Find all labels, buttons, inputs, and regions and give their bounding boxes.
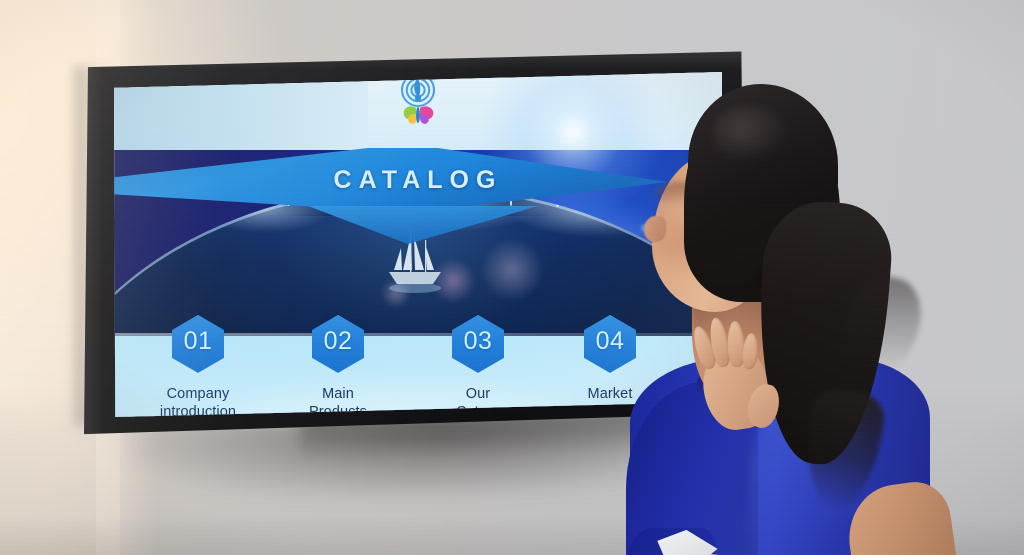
step-hexagon[interactable]: 03 bbox=[452, 315, 504, 373]
hair-sheen bbox=[712, 106, 788, 162]
step-label-line2: Products bbox=[278, 403, 398, 417]
step-hexagon[interactable]: 02 bbox=[312, 315, 364, 373]
paper-sheet-white bbox=[654, 528, 718, 555]
catalog-step-03[interactable]: 03 Our Cuture bbox=[418, 315, 538, 417]
catalog-step-01[interactable]: 01 Company introduction bbox=[138, 315, 258, 417]
room-scene: CATALOG 01 Company introduction bbox=[0, 0, 1024, 555]
step-label: Main Products bbox=[278, 385, 398, 417]
slide-title: CATALOG bbox=[334, 166, 503, 195]
step-number: 03 bbox=[452, 315, 504, 373]
step-number: 02 bbox=[312, 315, 364, 373]
person-raised-hand bbox=[678, 310, 786, 442]
step-label-line2: Cuture bbox=[418, 403, 538, 417]
step-label-line1: Company bbox=[138, 385, 258, 404]
catalog-step-02[interactable]: 02 Main Products bbox=[278, 315, 398, 417]
person-viewing-screen bbox=[600, 90, 960, 555]
step-label-line1: Main bbox=[278, 385, 398, 404]
step-number: 01 bbox=[172, 315, 224, 373]
company-logo-icon bbox=[390, 72, 446, 130]
step-label-line1: Our bbox=[418, 385, 538, 404]
step-label: Company introduction bbox=[138, 385, 258, 417]
step-label: Our Cuture bbox=[418, 385, 538, 417]
step-label-line2: introduction bbox=[138, 403, 258, 417]
step-hexagon[interactable]: 01 bbox=[172, 315, 224, 373]
butterfly-icon bbox=[404, 106, 434, 123]
